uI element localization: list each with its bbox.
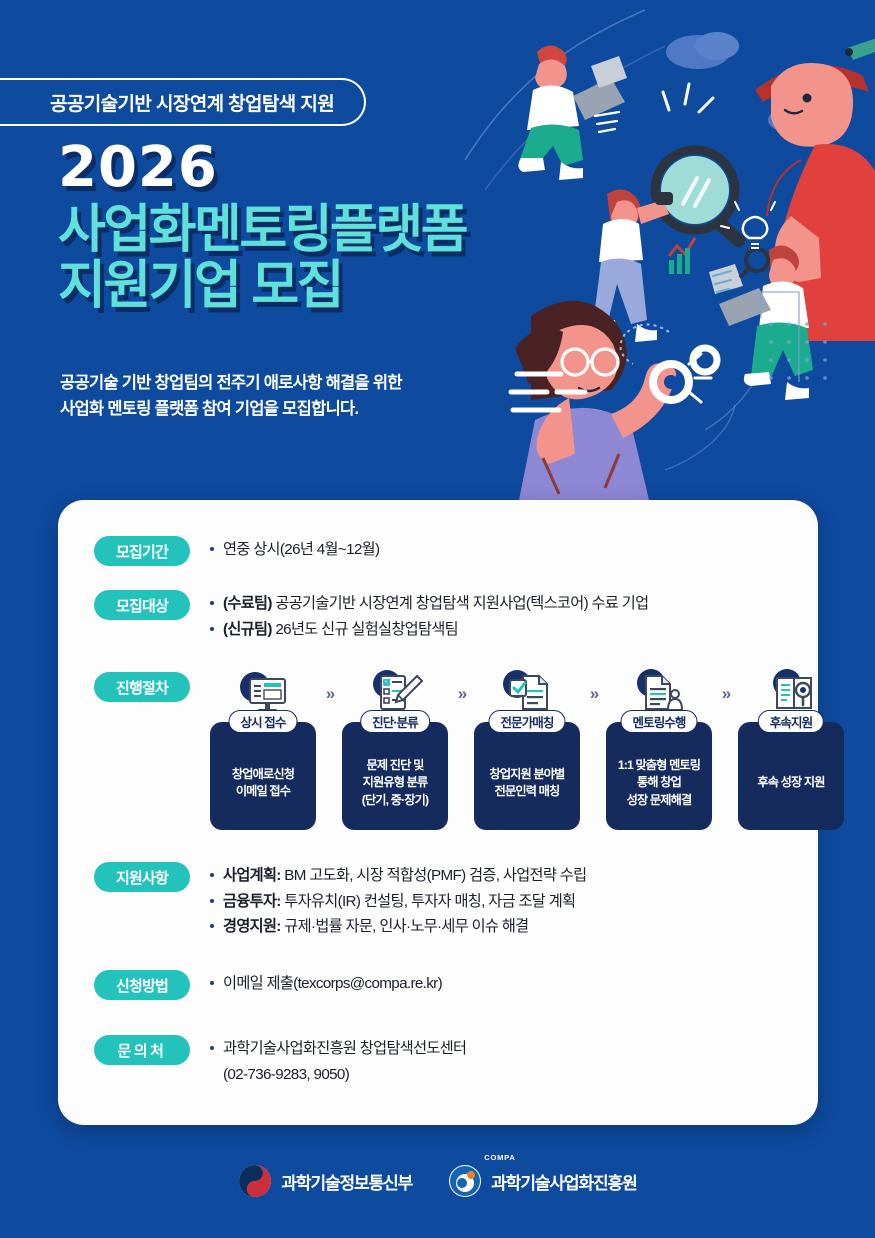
compa-tag: COMPA bbox=[484, 1153, 515, 1162]
title-line-2: 지원기업 모집 bbox=[58, 258, 466, 314]
target-item-rest: 26년도 신규 실험실창업탐색팀 bbox=[272, 621, 458, 638]
target-item-rest: 공공기술기반 시장연계 창업탐색 지원사업(텍스코어) 수료 기업 bbox=[272, 595, 649, 612]
step-text-line: 성장 문제해결 bbox=[618, 792, 700, 809]
poster-root: 공공기술기반 시장연계 창업탐색 지원 2026 사업화멘토링플랫폼 지원기업 … bbox=[0, 0, 875, 1238]
process-step: 멘토링수행 1:1 맞춤형 멘토링 통해 창업 성장 문제해결 bbox=[606, 668, 712, 830]
process-flow: 상시 접수 창업애로신청 이메일 접수 » bbox=[210, 668, 844, 830]
process-step: 후속지원 후속 성장 지원 bbox=[738, 668, 844, 830]
apply-item: 이메일 제출(texcorps@compa.re.kr) bbox=[210, 972, 818, 997]
ribbon-banner: 공공기술기반 시장연계 창업탐색 지원 bbox=[0, 78, 366, 126]
step-text-line: 전문인력 매칭 bbox=[489, 783, 564, 800]
ribbon-label: 공공기술기반 시장연계 창업탐색 지원 bbox=[50, 89, 334, 116]
badge-support: 지원사항 bbox=[94, 862, 190, 892]
document-person-icon bbox=[629, 668, 689, 716]
support-item-bold: 경영지원: bbox=[223, 918, 281, 935]
contact-line-1: 과학기술사업화진흥원 창업탐색선도센터 bbox=[210, 1037, 818, 1062]
support-item: 금융투자: 투자유치(IR) 컨설팅, 투자자 매칭, 자금 조달 계획 bbox=[210, 890, 818, 915]
process-step-pill: 멘토링수행 bbox=[620, 710, 697, 733]
step-text-line: 통해 창업 bbox=[618, 774, 700, 791]
row-contact: 문의처 과학기술사업화진흥원 창업탐색선도센터 (02-736-9283, 90… bbox=[58, 1035, 818, 1087]
support-item-bold: 금융투자: bbox=[223, 893, 281, 910]
step-text-line: 이메일 접수 bbox=[232, 783, 294, 800]
taegeuk-icon bbox=[238, 1164, 272, 1198]
monitor-icon bbox=[233, 668, 293, 716]
process-step: 상시 접수 창업애로신청 이메일 접수 bbox=[210, 668, 316, 830]
apply-body: 이메일 제출(texcorps@compa.re.kr) bbox=[210, 970, 818, 998]
contact-line-2: (02-736-9283, 9050) bbox=[210, 1063, 818, 1088]
info-card: 모집기간 연중 상시(26년 4월~12월) 모집대상 (수료팀) 공공기술기반… bbox=[58, 500, 818, 1125]
target-body: (수료팀) 공공기술기반 시장연계 창업탐색 지원사업(텍스코어) 수료 기업 … bbox=[210, 590, 818, 643]
compa-logo: COMPA 과학기술사업화진흥원 bbox=[448, 1164, 636, 1198]
ministry-logo: 과학기술정보통신부 bbox=[238, 1164, 412, 1198]
step-text-line: 창업지원 분야별 bbox=[489, 766, 564, 783]
flow-arrow-icon: » bbox=[712, 668, 738, 704]
process-step-card: 진단·분류 문제 진단 및 지원유형 분류 (단기, 중·장기) bbox=[342, 722, 448, 830]
hero-illustration bbox=[455, 0, 875, 500]
flow-arrow-icon: » bbox=[448, 668, 474, 704]
target-item-bold: (신규팀) bbox=[223, 621, 272, 638]
checklist-pencil-icon bbox=[365, 668, 425, 716]
document-check-icon bbox=[497, 668, 557, 716]
row-target: 모집대상 (수료팀) 공공기술기반 시장연계 창업탐색 지원사업(텍스코어) 수… bbox=[58, 590, 818, 643]
row-apply: 신청방법 이메일 제출(texcorps@compa.re.kr) bbox=[58, 970, 818, 1000]
step-text-line: 문제 진단 및 bbox=[362, 757, 429, 774]
support-item-rest: 규제·법률 자문, 인사·노무·세무 이슈 해결 bbox=[281, 918, 529, 935]
step-text-line: 후속 성장 지원 bbox=[757, 774, 824, 791]
process-step-pill: 상시 접수 bbox=[229, 710, 298, 733]
support-item-bold: 사업계획: bbox=[223, 867, 281, 884]
title-line-1: 사업화멘토링플랫폼 bbox=[58, 202, 466, 258]
process-body: 상시 접수 창업애로신청 이메일 접수 » bbox=[210, 672, 844, 830]
target-item-bold: (수료팀) bbox=[223, 595, 272, 612]
support-item-rest: 투자유치(IR) 컨설팅, 투자자 매칭, 자금 조달 계획 bbox=[281, 893, 576, 910]
badge-apply: 신청방법 bbox=[94, 970, 190, 1000]
process-step-pill: 후속지원 bbox=[758, 710, 824, 733]
badge-target: 모집대상 bbox=[94, 590, 190, 620]
contact-body: 과학기술사업화진흥원 창업탐색선도센터 (02-736-9283, 9050) bbox=[210, 1035, 818, 1087]
target-item: (신규팀) 26년도 신규 실험실창업탐색팀 bbox=[210, 618, 818, 643]
period-item: 연중 상시(26년 4월~12월) bbox=[210, 538, 818, 563]
support-body: 사업계획: BM 고도화, 시장 적합성(PMF) 검증, 사업전략 수립 금융… bbox=[210, 862, 818, 941]
badge-period: 모집기간 bbox=[94, 536, 190, 566]
support-item: 경영지원: 규제·법률 자문, 인사·노무·세무 이슈 해결 bbox=[210, 915, 818, 940]
support-item-rest: BM 고도화, 시장 적합성(PMF) 검증, 사업전략 수립 bbox=[281, 867, 587, 884]
row-support: 지원사항 사업계획: BM 고도화, 시장 적합성(PMF) 검증, 사업전략 … bbox=[58, 862, 818, 941]
process-step-text: 창업지원 분야별 전문인력 매칭 bbox=[485, 766, 568, 801]
process-step-card: 후속지원 후속 성장 지원 bbox=[738, 722, 844, 830]
process-step-card: 멘토링수행 1:1 맞춤형 멘토링 통해 창업 성장 문제해결 bbox=[606, 722, 712, 830]
process-step: 진단·분류 문제 진단 및 지원유형 분류 (단기, 중·장기) bbox=[342, 668, 448, 830]
target-item: (수료팀) 공공기술기반 시장연계 창업탐색 지원사업(텍스코어) 수료 기업 bbox=[210, 592, 818, 617]
step-text-line: 창업애로신청 bbox=[232, 766, 294, 783]
title-block: 2026 사업화멘토링플랫폼 지원기업 모집 bbox=[58, 140, 466, 314]
hero-subtitle: 공공기술 기반 창업팀의 전주기 애로사항 해결을 위한 사업화 멘토링 플랫폼… bbox=[60, 370, 402, 423]
badge-contact: 문의처 bbox=[94, 1035, 190, 1065]
flow-arrow-icon: » bbox=[316, 668, 342, 704]
book-magnifier-icon bbox=[761, 668, 821, 716]
process-step: 전문가매칭 창업지원 분야별 전문인력 매칭 bbox=[474, 668, 580, 830]
ministry-label: 과학기술정보통신부 bbox=[281, 1169, 412, 1194]
hero-section: 공공기술기반 시장연계 창업탐색 지원 2026 사업화멘토링플랫폼 지원기업 … bbox=[0, 0, 875, 495]
process-step-pill: 진단·분류 bbox=[360, 710, 430, 733]
process-step-text: 후속 성장 지원 bbox=[753, 774, 828, 791]
title-year: 2026 bbox=[58, 140, 466, 196]
process-step-card: 전문가매칭 창업지원 분야별 전문인력 매칭 bbox=[474, 722, 580, 830]
compa-label: 과학기술사업화진흥원 bbox=[491, 1169, 636, 1194]
badge-process: 진행절차 bbox=[94, 672, 190, 702]
process-step-text: 창업애로신청 이메일 접수 bbox=[228, 766, 298, 801]
process-step-text: 문제 진단 및 지원유형 분류 (단기, 중·장기) bbox=[358, 757, 433, 809]
subtitle-line-1: 공공기술 기반 창업팀의 전주기 애로사항 해결을 위한 bbox=[60, 370, 402, 396]
process-step-text: 1:1 맞춤형 멘토링 통해 창업 성장 문제해결 bbox=[614, 757, 704, 809]
step-text-line: (단기, 중·장기) bbox=[362, 792, 429, 809]
process-step-card: 상시 접수 창업애로신청 이메일 접수 bbox=[210, 722, 316, 830]
process-step-pill: 전문가매칭 bbox=[488, 710, 565, 733]
flow-arrow-icon: » bbox=[580, 668, 606, 704]
row-period: 모집기간 연중 상시(26년 4월~12월) bbox=[58, 536, 818, 566]
compa-icon bbox=[448, 1164, 482, 1198]
row-process: 진행절차 bbox=[58, 672, 818, 830]
subtitle-line-2: 사업화 멘토링 플랫폼 참여 기업을 모집합니다. bbox=[60, 396, 402, 422]
support-item: 사업계획: BM 고도화, 시장 적합성(PMF) 검증, 사업전략 수립 bbox=[210, 864, 818, 889]
step-text-line: 1:1 맞춤형 멘토링 bbox=[618, 757, 700, 774]
period-body: 연중 상시(26년 4월~12월) bbox=[210, 536, 818, 564]
step-text-line: 지원유형 분류 bbox=[362, 774, 429, 791]
footer-logos: 과학기술정보통신부 COMPA 과학기술사업화진흥원 bbox=[0, 1164, 875, 1198]
